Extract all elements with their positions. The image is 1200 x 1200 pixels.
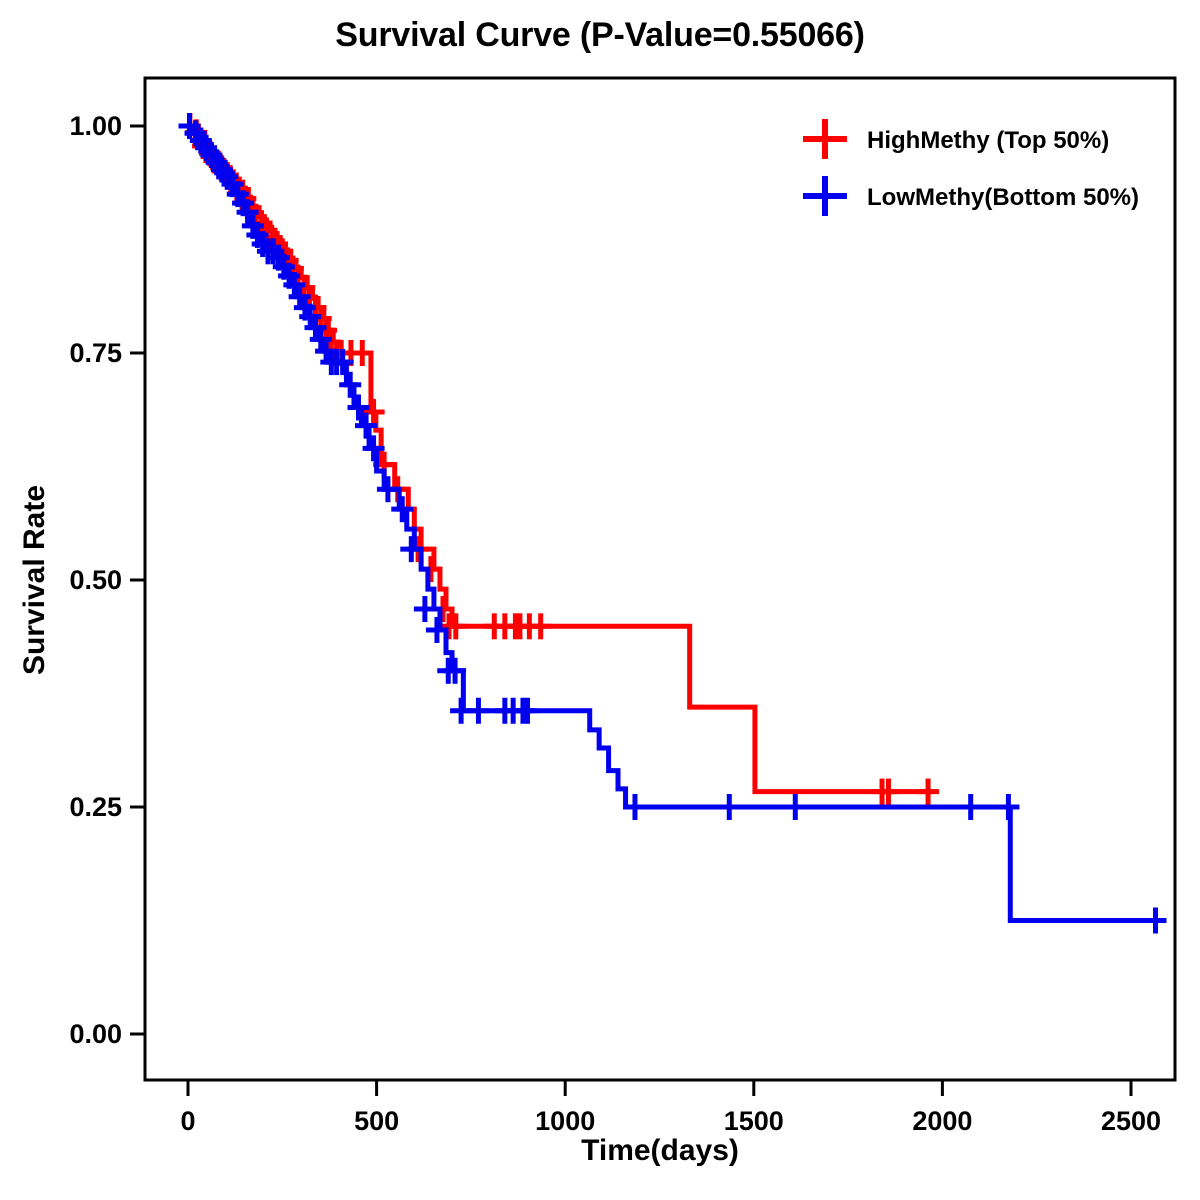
x-tick-label: 500 <box>354 1106 399 1136</box>
plot-frame <box>145 78 1175 1080</box>
y-axis-title: Survival Rate <box>18 485 51 675</box>
x-tick-label: 1000 <box>535 1106 595 1136</box>
x-tick-label: 2000 <box>912 1106 972 1136</box>
x-tick-label: 2500 <box>1101 1106 1161 1136</box>
series-low-methy <box>179 113 1167 934</box>
series-high-methy <box>179 113 939 805</box>
survival-curve-figure: Survival Curve (P-Value=0.55066) 0.000.2… <box>0 0 1200 1200</box>
y-axis-ticks: 0.000.250.500.751.00 <box>69 111 145 1049</box>
y-tick-label: 1.00 <box>69 111 122 141</box>
legend: HighMethy (Top 50%)LowMethy(Bottom 50%) <box>803 119 1139 216</box>
survival-step-line <box>188 126 935 792</box>
x-axis-ticks: 05001000150020002500 <box>180 1080 1161 1136</box>
censor-marks <box>179 113 1167 934</box>
legend-item[interactable]: HighMethy (Top 50%) <box>803 119 1109 159</box>
y-tick-label: 0.25 <box>69 792 122 822</box>
x-tick-label: 1500 <box>724 1106 784 1136</box>
legend-label: HighMethy (Top 50%) <box>867 127 1109 154</box>
survival-plot-svg: 0.000.250.500.751.00 0500100015002000250… <box>0 0 1200 1200</box>
legend-label: LowMethy(Bottom 50%) <box>867 184 1139 211</box>
x-axis-title: Time(days) <box>581 1134 739 1167</box>
y-tick-label: 0.75 <box>69 338 122 368</box>
censor-marks <box>179 113 939 805</box>
y-tick-label: 0.50 <box>69 565 122 595</box>
legend-item[interactable]: LowMethy(Bottom 50%) <box>803 176 1139 216</box>
x-tick-label: 0 <box>180 1106 195 1136</box>
series-layer <box>179 113 1167 934</box>
y-tick-label: 0.00 <box>69 1019 122 1049</box>
